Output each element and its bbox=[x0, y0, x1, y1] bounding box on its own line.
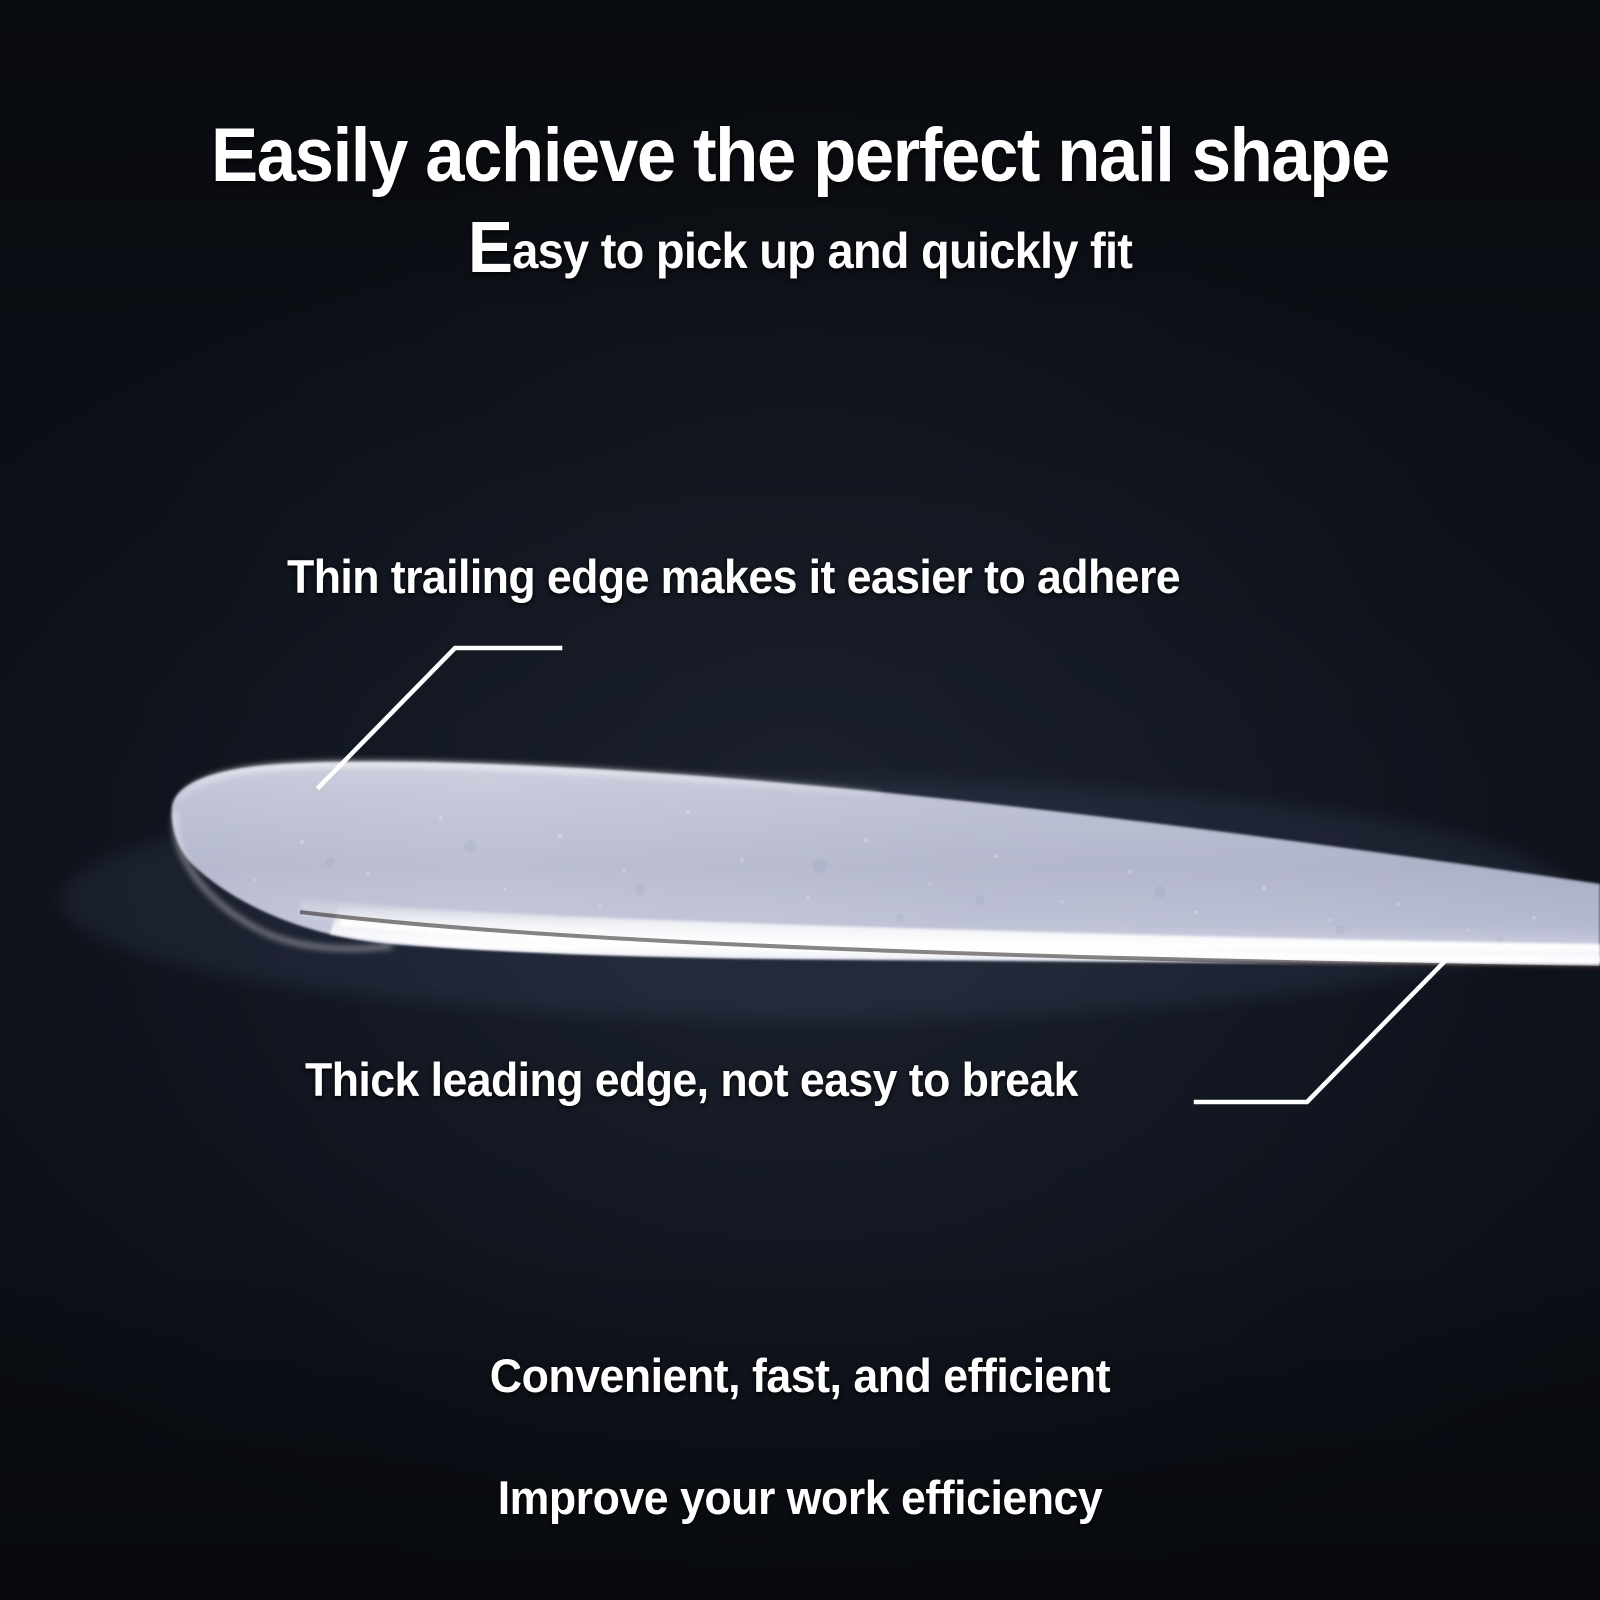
feature-graphic-canvas: Easily achieve the perfect nail shape Ea… bbox=[0, 0, 1600, 1600]
page-subtitle: Easy to pick up and quickly fit bbox=[48, 222, 1552, 280]
footer-benefit-line-1: Convenient, fast, and efficient bbox=[40, 1348, 1560, 1403]
callout-label-thick-leading-edge: Thick leading edge, not easy to break bbox=[305, 1052, 1078, 1107]
callout-label-thin-trailing-edge: Thin trailing edge makes it easier to ad… bbox=[287, 549, 1180, 604]
subtitle-rest: asy to pick up and quickly fit bbox=[512, 223, 1132, 279]
subtitle-dropcap: E bbox=[468, 208, 512, 288]
page-title: Easily achieve the perfect nail shape bbox=[56, 112, 1544, 199]
footer-benefit-line-2: Improve your work efficiency bbox=[40, 1470, 1560, 1525]
